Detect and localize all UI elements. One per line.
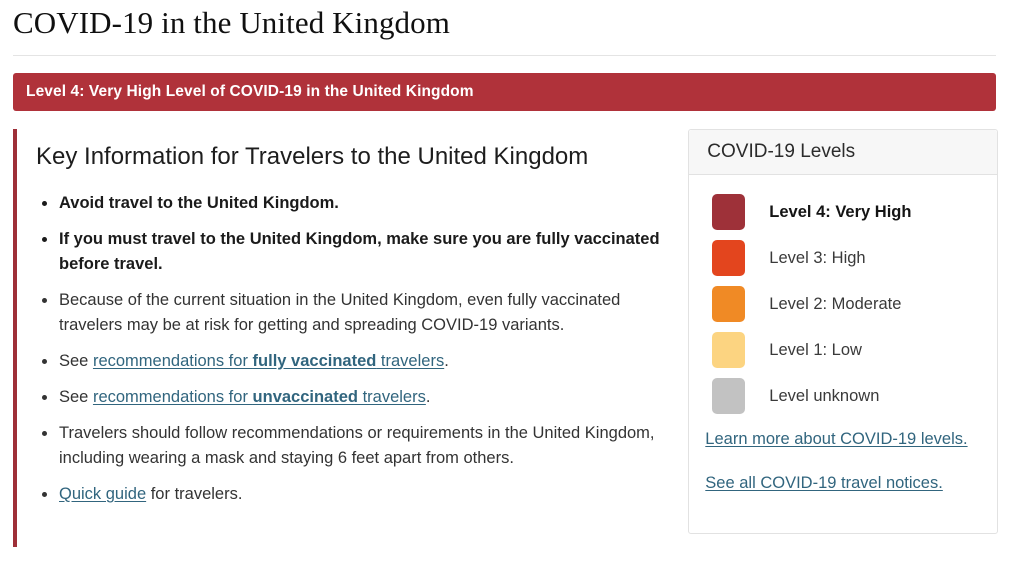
level-color-swatch	[712, 378, 745, 414]
legend-label: Level 4: Very High	[769, 202, 911, 222]
panel-link[interactable]: Learn more about COVID-19 levels.	[705, 427, 981, 452]
link-text[interactable]: travelers	[376, 352, 444, 370]
legend-row: Level 3: High	[705, 235, 981, 281]
legend-row: Level unknown	[705, 373, 981, 419]
key-information-bullet: Quick guide for travelers.	[34, 482, 671, 507]
bullet-text: Travelers should follow recommendations …	[59, 424, 655, 467]
level-color-swatch	[712, 240, 745, 276]
link-text[interactable]: Quick guide	[59, 485, 146, 503]
bullet-text: Avoid travel to the United Kingdom.	[59, 194, 339, 212]
legend-row: Level 4: Very High	[705, 189, 981, 235]
key-information-section: Key Information for Travelers to the Uni…	[13, 129, 671, 547]
bullet-text: .	[426, 388, 431, 406]
bullet-link[interactable]: recommendations for fully vaccinated tra…	[93, 352, 444, 370]
level-color-swatch	[712, 194, 745, 230]
link-emphasis[interactable]: fully vaccinated	[253, 352, 377, 370]
bullet-text: .	[444, 352, 449, 370]
covid-levels-panel-header: COVID-19 Levels	[689, 130, 997, 175]
level-banner-text: Level 4: Very High Level of COVID-19 in …	[26, 84, 474, 100]
legend-label: Level 2: Moderate	[769, 294, 901, 314]
legend-label: Level 1: Low	[769, 340, 862, 360]
legend-row: Level 2: Moderate	[705, 281, 981, 327]
link-text[interactable]: recommendations for	[93, 388, 253, 406]
covid-levels-panel: COVID-19 Levels Level 4: Very HighLevel …	[688, 129, 998, 534]
bullet-link[interactable]: Quick guide	[59, 485, 146, 503]
covid-levels-panel-body: Level 4: Very HighLevel 3: HighLevel 2: …	[689, 175, 997, 512]
bullet-text: Because of the current situation in the …	[59, 291, 620, 334]
level-color-swatch	[712, 286, 745, 322]
panel-link[interactable]: See all COVID-19 travel notices.	[705, 471, 981, 496]
bullet-text: See	[59, 352, 93, 370]
key-information-heading: Key Information for Travelers to the Uni…	[34, 129, 671, 172]
link-emphasis[interactable]: unvaccinated	[253, 388, 358, 406]
covid-travel-notice-page: COVID-19 in the United Kingdom Level 4: …	[0, 0, 1009, 565]
legend-list: Level 4: Very HighLevel 3: HighLevel 2: …	[705, 189, 981, 419]
level-banner: Level 4: Very High Level of COVID-19 in …	[13, 73, 996, 111]
bullet-text: If you must travel to the United Kingdom…	[59, 230, 660, 273]
bullet-text: See	[59, 388, 93, 406]
key-information-bullet: Travelers should follow recommendations …	[34, 421, 671, 471]
covid-levels-panel-title: COVID-19 Levels	[707, 141, 855, 162]
title-divider	[13, 55, 996, 56]
page-title: COVID-19 in the United Kingdom	[0, 0, 1009, 41]
panel-links: Learn more about COVID-19 levels.See all…	[705, 427, 981, 496]
key-information-bullet: Because of the current situation in the …	[34, 288, 671, 338]
legend-label: Level 3: High	[769, 248, 865, 268]
key-information-bullet: Avoid travel to the United Kingdom.	[34, 191, 671, 216]
bullet-text: for travelers.	[146, 485, 242, 503]
legend-label: Level unknown	[769, 386, 879, 406]
key-information-bullet: If you must travel to the United Kingdom…	[34, 227, 671, 277]
key-information-bullet: See recommendations for unvaccinated tra…	[34, 385, 671, 410]
link-text[interactable]: recommendations for	[93, 352, 253, 370]
content-columns: Key Information for Travelers to the Uni…	[0, 129, 1009, 547]
bullet-link[interactable]: recommendations for unvaccinated travele…	[93, 388, 426, 406]
legend-row: Level 1: Low	[705, 327, 981, 373]
link-text[interactable]: travelers	[358, 388, 426, 406]
key-information-list: Avoid travel to the United Kingdom.If yo…	[34, 191, 671, 507]
level-color-swatch	[712, 332, 745, 368]
key-information-bullet: See recommendations for fully vaccinated…	[34, 349, 671, 374]
